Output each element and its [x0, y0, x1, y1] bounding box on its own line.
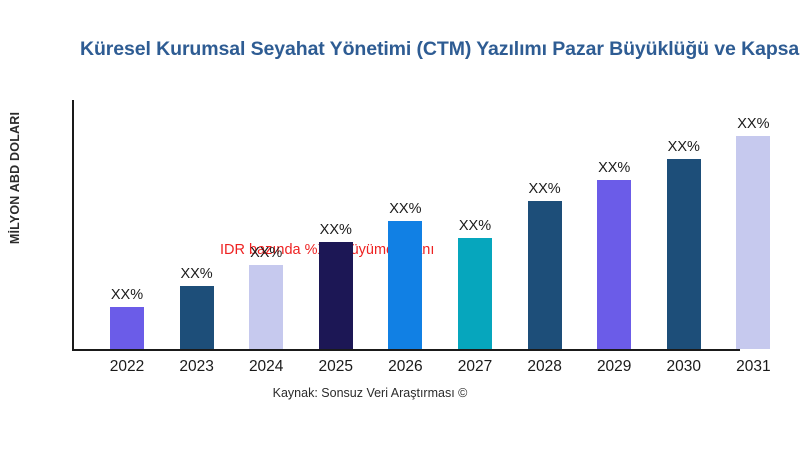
- x-tick-label-2024: 2024: [231, 358, 301, 376]
- x-tick-label-2030: 2030: [649, 358, 719, 376]
- bar-value-label: XX%: [376, 201, 434, 217]
- x-tick-label-2022: 2022: [92, 358, 162, 376]
- x-tick-label-2027: 2027: [440, 358, 510, 376]
- bar-value-label: XX%: [168, 266, 226, 282]
- source-note: Kaynak: Sonsuz Veri Araştırması ©: [0, 386, 740, 400]
- bar-value-label: XX%: [516, 181, 574, 197]
- bar[interactable]: [110, 307, 144, 349]
- bar[interactable]: [597, 180, 631, 349]
- x-tick-label-2031: 2031: [718, 358, 788, 376]
- bar-value-label: XX%: [98, 287, 156, 303]
- bar[interactable]: [319, 242, 353, 349]
- x-axis-line: [72, 349, 740, 351]
- bar[interactable]: [736, 136, 770, 349]
- bar-value-label: XX%: [585, 160, 643, 176]
- bar[interactable]: [528, 201, 562, 349]
- x-tick-label-2023: 2023: [162, 358, 232, 376]
- bar-value-label: XX%: [724, 116, 782, 132]
- bar-value-label: XX%: [655, 139, 713, 155]
- x-tick-label-2028: 2028: [510, 358, 580, 376]
- bar-value-label: XX%: [307, 222, 365, 238]
- bar[interactable]: [180, 286, 214, 349]
- y-axis-line: [72, 100, 74, 350]
- bar-value-label: XX%: [446, 218, 504, 234]
- bar[interactable]: [458, 238, 492, 349]
- bar[interactable]: [388, 221, 422, 349]
- bar-value-label: XX%: [237, 245, 295, 261]
- y-axis-title-text: MİLYON ABD DOLARI: [8, 112, 22, 244]
- x-tick-label-2026: 2026: [370, 358, 440, 376]
- bar[interactable]: [667, 159, 701, 349]
- plot-area: IDR bazında %XX Büyüme Oranı XX%XX%XX%XX…: [72, 100, 740, 350]
- y-axis-title: MİLYON ABD DOLARI: [0, 95, 30, 315]
- x-tick-label-2029: 2029: [579, 358, 649, 376]
- chart-container: Küresel Kurumsal Seyahat Yönetimi (CTM) …: [0, 0, 800, 450]
- x-tick-label-2025: 2025: [301, 358, 371, 376]
- bar[interactable]: [249, 265, 283, 349]
- chart-title: Küresel Kurumsal Seyahat Yönetimi (CTM) …: [80, 38, 800, 61]
